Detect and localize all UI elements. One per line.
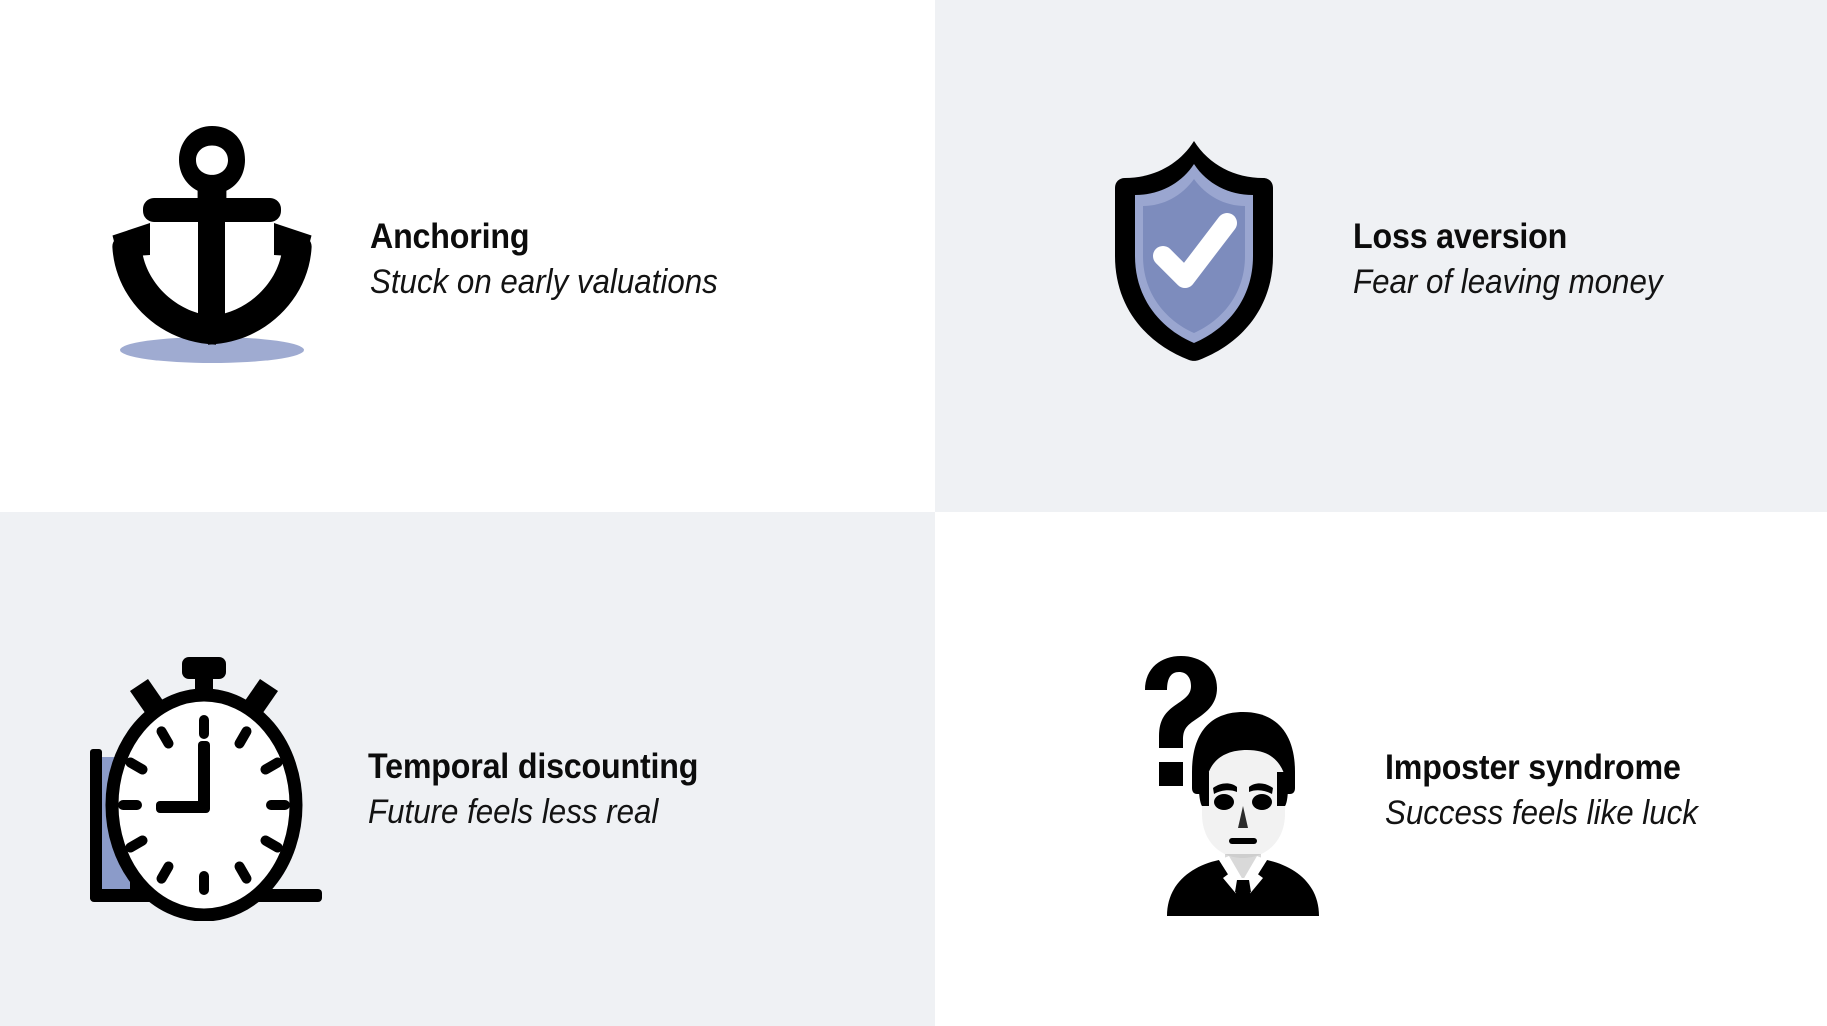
card-title: Temporal discounting bbox=[368, 749, 698, 784]
bias-card-grid: Anchoring Stuck on early valuations Loss… bbox=[0, 0, 1827, 1026]
card-subtitle: Stuck on early valuations bbox=[370, 265, 718, 299]
card-text-loss-aversion: Loss aversion Fear of leaving money bbox=[1353, 219, 1689, 299]
card-imposter-syndrome[interactable]: Imposter syndrome Success feels like luc… bbox=[935, 512, 1827, 1026]
shield-check-icon bbox=[1101, 138, 1287, 364]
card-title: Imposter syndrome bbox=[1385, 750, 1698, 785]
card-anchoring[interactable]: Anchoring Stuck on early valuations bbox=[0, 0, 935, 512]
anchor-icon bbox=[104, 124, 320, 370]
card-subtitle: Future feels less real bbox=[368, 795, 698, 829]
card-temporal-discounting[interactable]: Temporal discounting Future feels less r… bbox=[0, 512, 935, 1026]
card-text-anchoring: Anchoring Stuck on early valuations bbox=[370, 219, 748, 299]
card-title: Anchoring bbox=[370, 219, 718, 254]
person-question-mark-icon bbox=[1107, 654, 1343, 916]
card-text-imposter-syndrome: Imposter syndrome Success feels like luc… bbox=[1385, 750, 1725, 830]
stopwatch-chart-icon bbox=[78, 653, 330, 921]
card-text-temporal-discounting: Temporal discounting Future feels less r… bbox=[368, 749, 727, 829]
card-loss-aversion[interactable]: Loss aversion Fear of leaving money bbox=[935, 0, 1827, 512]
card-subtitle: Fear of leaving money bbox=[1353, 265, 1662, 299]
person-bust-glyph bbox=[1167, 712, 1319, 916]
card-title: Loss aversion bbox=[1353, 219, 1662, 254]
card-subtitle: Success feels like luck bbox=[1385, 796, 1698, 830]
